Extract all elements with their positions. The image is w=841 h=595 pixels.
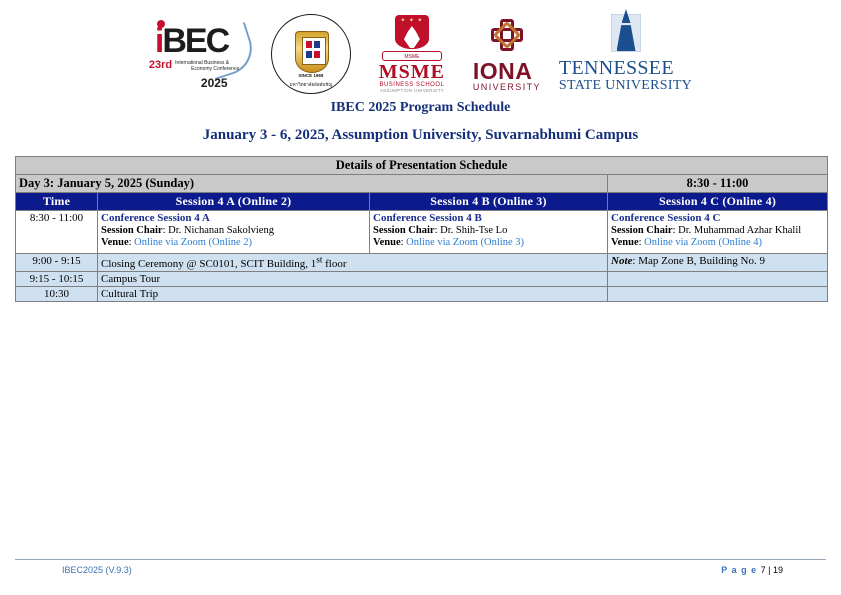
table-row-closing-ceremony: 9:00 - 9:15 Closing Ceremony @ SC0101, S…: [16, 253, 828, 272]
msme-ribbon: [382, 51, 442, 61]
table-row-campus-tour: 9:15 - 10:15 Campus Tour: [16, 272, 828, 287]
document-page: iBEC 23rd International Business & Econo…: [0, 0, 841, 595]
session-chair: Session Chair: Dr. Nichanan Sakolvieng: [101, 225, 366, 237]
session-title: Conference Session 4 A: [101, 212, 366, 224]
au-seal-since: SINCE 1969: [272, 73, 350, 78]
day-label: Day 3: January 5, 2025 (Sunday): [16, 175, 608, 193]
column-header-time: Time: [16, 193, 98, 211]
logo-bar: iBEC 23rd International Business & Econo…: [0, 0, 841, 90]
session-venue: Venue: Online via Zoom (Online 4): [611, 237, 824, 249]
table-row-day: Day 3: January 5, 2025 (Sunday) 8:30 - 1…: [16, 175, 828, 193]
assumption-university-seal: SINCE 1969 มหาวิทยาลัยอัสสัมชัญ: [271, 14, 351, 94]
session-venue-label: Venue: [373, 237, 401, 248]
footer-row-time: 9:15 - 10:15: [16, 272, 98, 287]
session-title: Conference Session 4 B: [373, 212, 604, 224]
footer-row-note: Note: Map Zone B, Building No. 9: [608, 253, 828, 272]
session-venue-label: Venue: [611, 237, 639, 248]
au-seal-crest: [295, 31, 329, 73]
iona-knot-icon: [489, 17, 525, 53]
tsu-line2: STATE UNIVERSITY: [559, 79, 692, 94]
msme-shield-icon: [395, 15, 429, 49]
column-header-session-4b: Session 4 B (Online 3): [370, 193, 608, 211]
ibec-logo-subtitle: 23rd International Business & Economy Co…: [149, 60, 253, 72]
session-chair: Session Chair: Dr. Muhammad Azhar Khalil: [611, 225, 824, 237]
session-venue: Venue: Online via Zoom (Online 3): [373, 237, 604, 249]
note-label: Note: [611, 255, 632, 267]
schedule-table: Details of Presentation Schedule Day 3: …: [15, 156, 828, 302]
msme-sub2: ASSUMPTION UNIVERSITY: [380, 88, 444, 93]
tennessee-state-university-logo: TENNESSEE STATE UNIVERSITY: [559, 14, 692, 94]
iona-subtitle: UNIVERSITY: [473, 83, 541, 92]
session-chair-label: Session Chair: [373, 225, 435, 236]
session-chair: Session Chair: Dr. Shih-Tse Lo: [373, 225, 604, 237]
table-row-sessions: 8:30 - 11:00 Conference Session 4 A Sess…: [16, 211, 828, 254]
footer-document-version: IBEC2025 (V.9.3): [62, 565, 132, 575]
session-venue-link[interactable]: Online via Zoom (Online 2): [134, 237, 252, 248]
table-row-details-banner: Details of Presentation Schedule: [16, 157, 828, 175]
footer-divider: [15, 559, 826, 560]
ibec-logo: iBEC 23rd International Business & Econo…: [149, 18, 253, 90]
footer-row-time: 10:30: [16, 287, 98, 302]
footer-row-activity: Cultural Trip: [98, 287, 608, 302]
iona-title: IONA: [473, 60, 541, 83]
footer-row-time: 9:00 - 9:15: [16, 253, 98, 272]
note-text: : Map Zone B, Building No. 9: [632, 255, 765, 267]
details-banner: Details of Presentation Schedule: [16, 157, 828, 175]
iona-university-logo: IONA UNIVERSITY: [473, 17, 541, 92]
column-header-session-4c: Session 4 C (Online 4): [608, 193, 828, 211]
session-chair-name: Dr. Shih-Tse Lo: [440, 225, 507, 236]
table-row-cultural-trip: 10:30 Cultural Trip: [16, 287, 828, 302]
column-header-session-4a: Session 4 A (Online 2): [98, 193, 370, 211]
schedule-table-wrapper: Details of Presentation Schedule Day 3: …: [15, 156, 827, 302]
closing-ceremony-text: Closing Ceremony @ SC0101, SCIT Building…: [101, 258, 347, 270]
ibec-logo-year: 2025: [201, 76, 228, 90]
session-venue-link[interactable]: Online via Zoom (Online 3): [406, 237, 524, 248]
msme-title: MSME: [379, 62, 445, 82]
session-cell-4b: Conference Session 4 B Session Chair: Dr…: [370, 211, 608, 254]
msme-business-school-logo: MSME BUSINESS SCHOOL ASSUMPTION UNIVERSI…: [369, 15, 455, 93]
day-time-range: 8:30 - 11:00: [608, 175, 828, 193]
session-venue-link[interactable]: Online via Zoom (Online 4): [644, 237, 762, 248]
msme-bird-icon: [404, 26, 420, 48]
page-subtitle: January 3 - 6, 2025, Assumption Universi…: [0, 127, 841, 144]
footer-page-value: 7 | 19: [761, 565, 783, 575]
session-cell-4a: Conference Session 4 A Session Chair: Dr…: [98, 211, 370, 254]
au-seal-thai-text: มหาวิทยาลัยอัสสัมชัญ: [272, 81, 350, 88]
page-footer: IBEC2025 (V.9.3) P a g e 7 | 19: [0, 563, 841, 583]
ibec-logo-edition: 23rd: [149, 60, 172, 71]
footer-row-note-empty: [608, 272, 828, 287]
session-chair-label: Session Chair: [101, 225, 163, 236]
session-cell-4c: Conference Session 4 C Session Chair: Dr…: [608, 211, 828, 254]
session-chair-name: Dr. Muhammad Azhar Khalil: [678, 225, 801, 236]
footer-row-activity: Closing Ceremony @ SC0101, SCIT Building…: [98, 253, 608, 272]
footer-row-note-empty: [608, 287, 828, 302]
session-chair-name: Dr. Nichanan Sakolvieng: [168, 225, 274, 236]
session-chair-label: Session Chair: [611, 225, 673, 236]
footer-page-number: P a g e 7 | 19: [721, 565, 783, 575]
session-title: Conference Session 4 C: [611, 212, 824, 224]
footer-row-activity: Campus Tour: [98, 272, 608, 287]
table-row-column-headers: Time Session 4 A (Online 2) Session 4 B …: [16, 193, 828, 211]
ibec-logo-sub-line2: Economy Conference: [191, 66, 239, 72]
footer-page-word: P a g e: [721, 565, 760, 575]
session-row-time: 8:30 - 11:00: [16, 211, 98, 254]
session-venue: Venue: Online via Zoom (Online 2): [101, 237, 366, 249]
tsu-tower-icon: [611, 14, 641, 52]
tsu-line1: TENNESSEE: [559, 58, 692, 79]
session-venue-label: Venue: [101, 237, 129, 248]
page-title: IBEC 2025 Program Schedule: [0, 100, 841, 116]
